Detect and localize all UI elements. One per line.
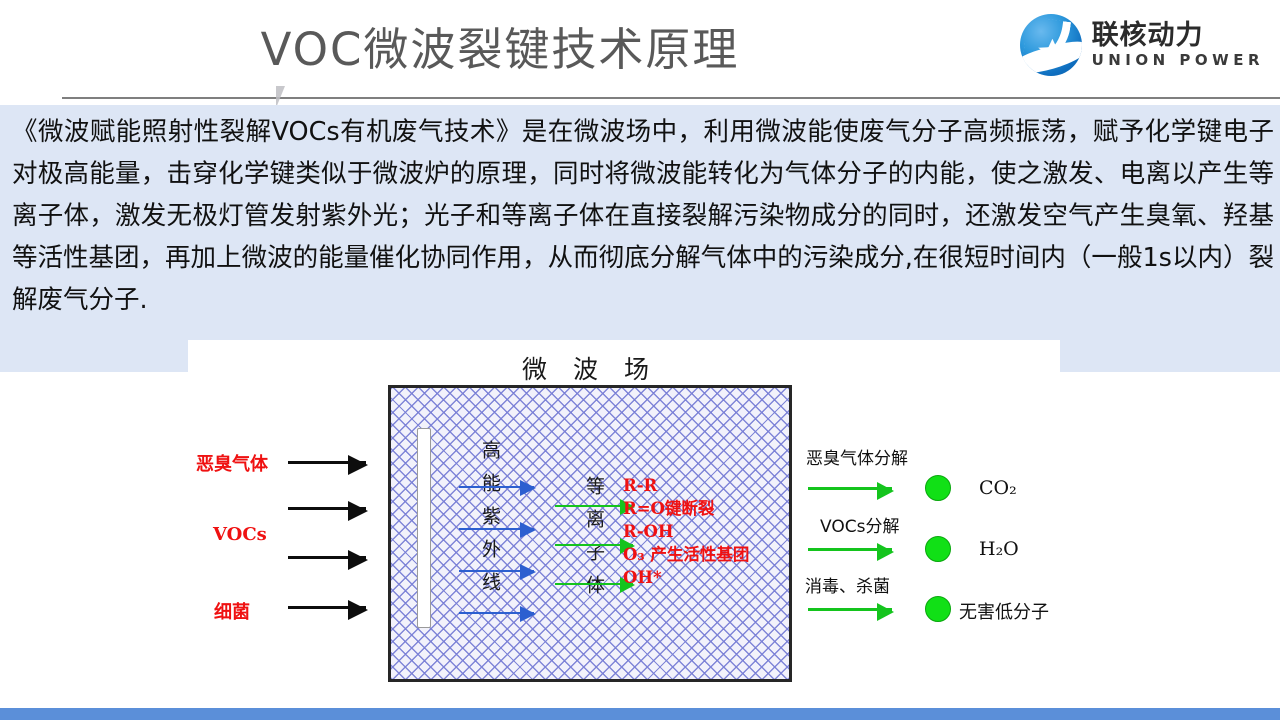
brand-logo: 联核动力 UNION POWER xyxy=(1020,14,1264,76)
page-title: VOC微波裂键技术原理 xyxy=(0,22,1000,78)
plasma-arrow-1 xyxy=(555,505,633,507)
title-divider xyxy=(62,97,1280,99)
output-arrow-3 xyxy=(808,608,892,611)
microwave-field-title: 微 波 场 xyxy=(390,350,790,386)
reaction-item-3: R-OH xyxy=(623,520,749,543)
output-label-disinfect: 消毒、杀菌 xyxy=(805,572,890,597)
output-label-odor-decomposed: 恶臭气体分解 xyxy=(806,444,908,469)
uv-arrow-1 xyxy=(459,486,534,488)
output-arrow-1 xyxy=(808,487,892,490)
input-arrow-2 xyxy=(288,507,366,510)
reaction-item-1: R-R xyxy=(623,474,749,497)
brand-name-cn: 联核动力 xyxy=(1092,22,1264,49)
input-arrow-3 xyxy=(288,556,366,559)
reaction-item-4: O₃ 产生活性基团 xyxy=(623,543,749,566)
output-label-vocs-decomposed: VOCs分解 xyxy=(820,512,899,537)
product-dot-1 xyxy=(925,475,951,501)
body-paragraph: 《微波赋能照射性裂解VOCs有机废气技术》是在微波场中，利用微波能使废气分子高频… xyxy=(12,111,1274,321)
globe-swoosh-star-icon xyxy=(1020,14,1082,76)
reaction-list: R-R R=O键断裂 R-OH O₃ 产生活性基团 OH* xyxy=(623,474,749,589)
uv-column-label: 高能紫外线 xyxy=(473,440,507,605)
slide-canvas: VOC微波裂键技术原理 联核动力 UNION POWER 《微波赋能照射性裂解V… xyxy=(0,0,1280,720)
input-arrow-4 xyxy=(288,606,366,609)
product-label-h2o: H₂O xyxy=(979,538,1019,560)
plasma-arrow-3 xyxy=(555,583,633,585)
reaction-item-2: R=O键断裂 xyxy=(623,497,749,520)
input-label-vocs: VOCs xyxy=(213,524,267,545)
uv-arrow-3 xyxy=(459,570,534,572)
output-arrow-2 xyxy=(808,548,892,551)
microwave-reactor-box: 高能紫外线 等离子体 R-R R=O键断裂 R-OH O₃ 产生活性基团 OH* xyxy=(388,385,792,682)
footer-accent-bar xyxy=(0,708,1280,720)
uv-arrow-2 xyxy=(459,528,534,530)
body-text-panel: 《微波赋能照射性裂解VOCs有机废气技术》是在微波场中，利用微波能使废气分子高频… xyxy=(0,105,1280,373)
product-dot-2 xyxy=(925,536,951,562)
product-dot-3 xyxy=(925,596,951,622)
brand-name-en: UNION POWER xyxy=(1092,53,1264,68)
input-arrow-1 xyxy=(288,461,366,464)
uv-arrow-4 xyxy=(459,612,534,614)
product-label-harmless: 无害低分子 xyxy=(959,598,1049,624)
brand-logo-text: 联核动力 UNION POWER xyxy=(1092,22,1264,68)
input-label-odor-gas: 恶臭气体 xyxy=(196,450,268,476)
electrodeless-lamp-tube-icon xyxy=(417,428,431,628)
reaction-item-5: OH* xyxy=(623,566,749,589)
input-label-bacteria: 细菌 xyxy=(214,598,250,624)
product-label-co2: CO₂ xyxy=(979,477,1017,499)
plasma-column-label: 等离子体 xyxy=(577,476,611,608)
plasma-arrow-2 xyxy=(555,544,633,546)
